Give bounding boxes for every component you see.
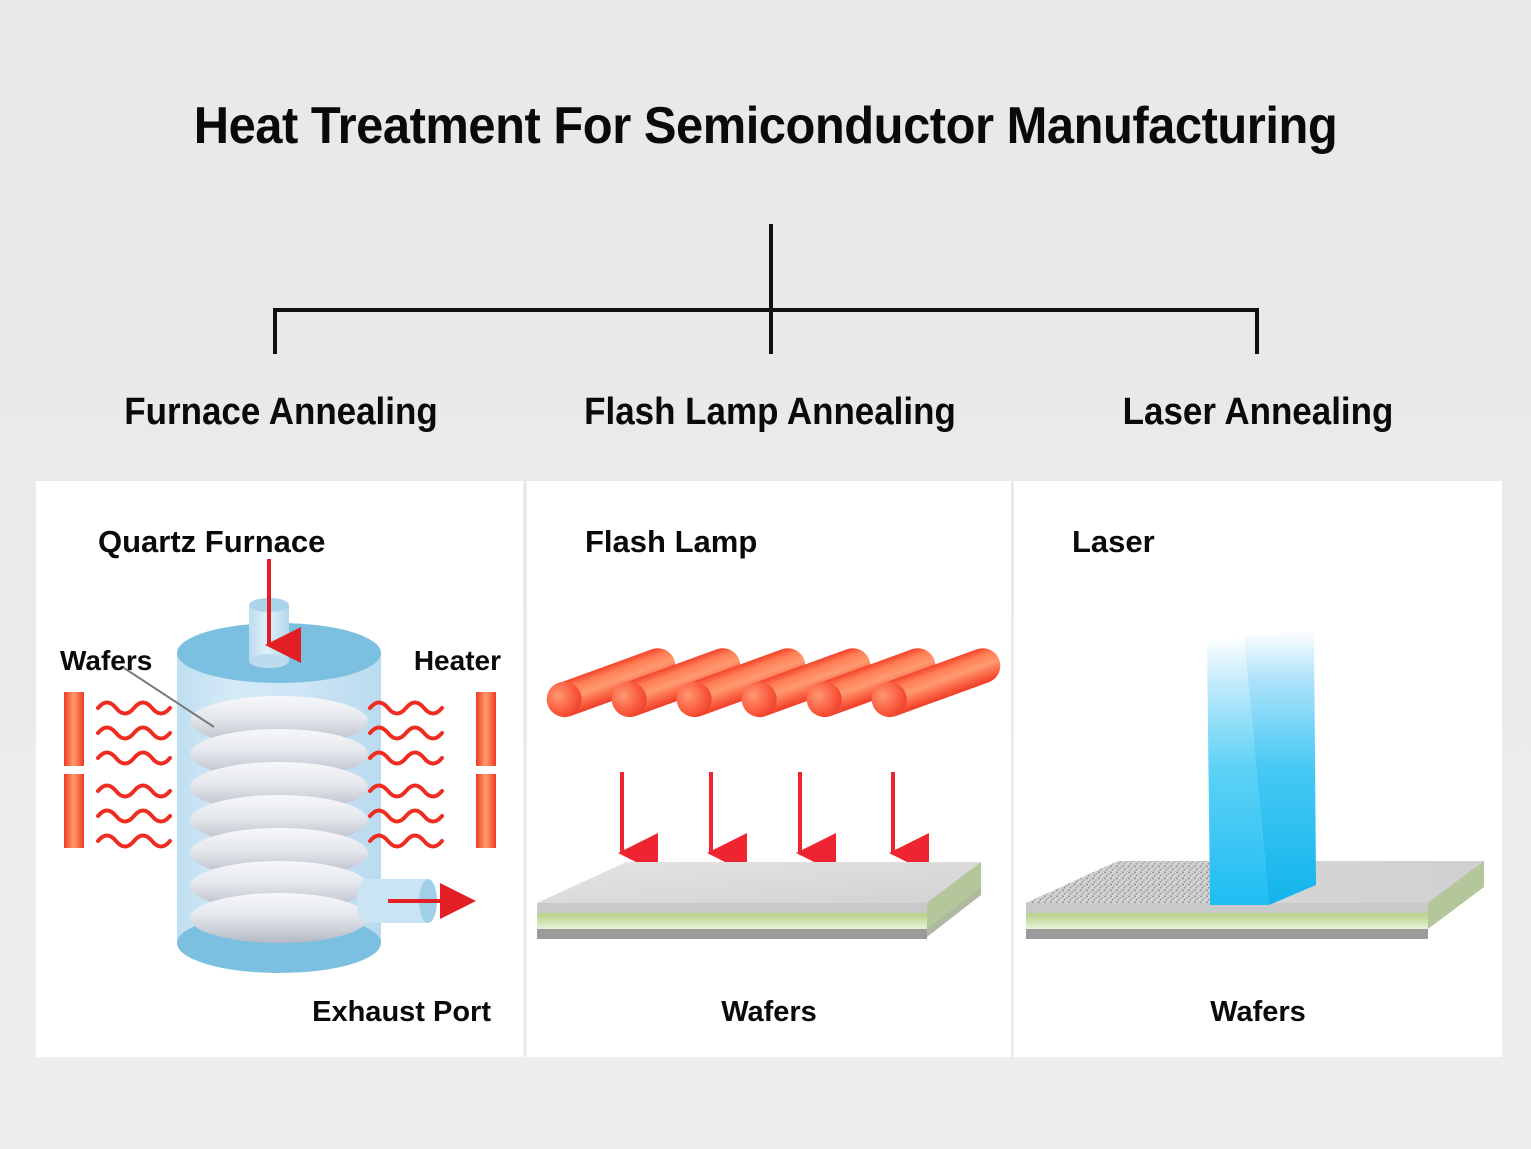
wafer-stack (190, 696, 368, 943)
connector-drop-left (273, 308, 277, 354)
diagram-canvas: Heat Treatment For Semiconductor Manufac… (0, 0, 1531, 1149)
heater-bar (64, 692, 84, 766)
panel-flash-lamp-annealing: Flash Lamp Wafers (527, 481, 1011, 1057)
connector-horizontal-bar (273, 308, 1259, 312)
exhaust-port (357, 879, 472, 923)
branch-label-furnace-annealing: Furnace Annealing (56, 391, 507, 434)
panel-title-laser: Laser (1072, 524, 1155, 560)
heater-bar (476, 692, 496, 766)
connector-drop-center (769, 308, 773, 354)
laser-beam (1207, 630, 1316, 905)
branch-label-laser-annealing: Laser Annealing (1034, 391, 1483, 434)
flash-lamp-illustration (527, 481, 1011, 1057)
panel-furnace-annealing: Quartz Furnace Wafers Heater Exhaust Por… (36, 481, 523, 1057)
heater-bar (64, 774, 84, 848)
wafer-slab (537, 862, 981, 939)
panel-footer-exhaust-port: Exhaust Port (312, 996, 491, 1029)
heat-waves-left (98, 703, 170, 847)
label-heater: Heater (414, 645, 501, 677)
panel-footer-wafers: Wafers (527, 996, 1011, 1029)
flash-lamp-array (542, 643, 1006, 722)
panel-laser-annealing: Laser Wafers (1014, 481, 1502, 1057)
panel-title-quartz-furnace: Quartz Furnace (98, 524, 325, 560)
branch-label-flash-lamp-annealing: Flash Lamp Annealing (546, 391, 993, 434)
label-wafers: Wafers (60, 645, 152, 677)
connector-stem (769, 224, 773, 312)
quartz-furnace-illustration (36, 481, 523, 1057)
radiation-arrows (622, 772, 893, 853)
panel-footer-wafers: Wafers (1014, 996, 1502, 1029)
panel-title-flash-lamp: Flash Lamp (585, 524, 757, 560)
heater-bar (476, 774, 496, 848)
connector-drop-right (1255, 308, 1259, 354)
page-title: Heat Treatment For Semiconductor Manufac… (46, 96, 1485, 156)
laser-illustration (1014, 481, 1502, 1057)
